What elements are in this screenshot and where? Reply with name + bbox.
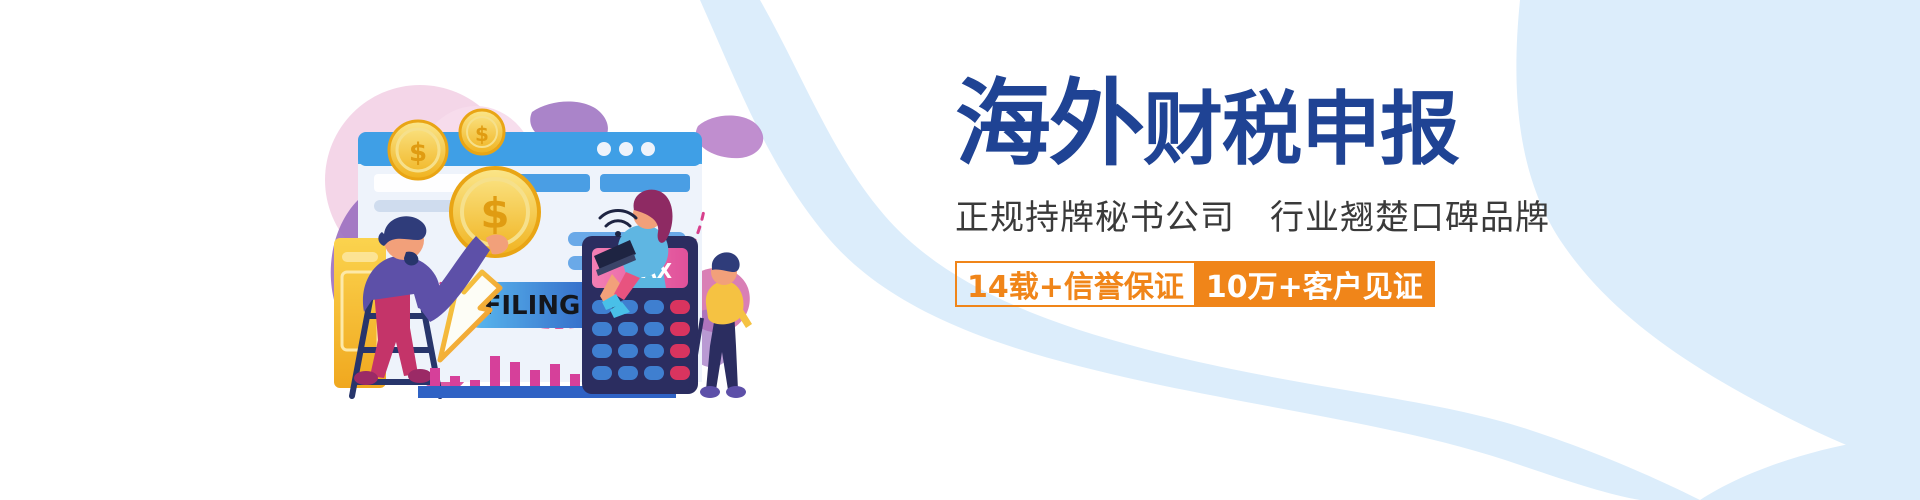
headline-primary: 海外 bbox=[955, 78, 1143, 172]
badge-row: 14载+信誉保证 10万+客户见证 bbox=[955, 261, 1575, 307]
headline-secondary: 财税申报 bbox=[1143, 90, 1459, 170]
coin-small-top: $ bbox=[460, 110, 504, 154]
filing-button-label: FILING bbox=[484, 291, 581, 321]
svg-text:$: $ bbox=[480, 189, 509, 238]
svg-text:$: $ bbox=[409, 138, 427, 168]
headline: 海外 财税申报 bbox=[955, 78, 1575, 172]
text-block: 海外 财税申报 正规持牌秘书公司 行业翘楚口碑品牌 14载+信誉保证 10万+客… bbox=[955, 78, 1575, 368]
badge-customers: 10万+客户见证 bbox=[1196, 261, 1435, 307]
subtitle: 正规持牌秘书公司 行业翘楚口碑品牌 bbox=[955, 190, 1575, 239]
badge-years: 14载+信誉保证 bbox=[955, 261, 1196, 307]
coin-small-left: $ bbox=[389, 121, 447, 179]
illustration: FILING $ $ bbox=[300, 60, 770, 400]
promo-banner: FILING $ $ bbox=[0, 0, 1920, 500]
svg-text:$: $ bbox=[475, 122, 489, 146]
